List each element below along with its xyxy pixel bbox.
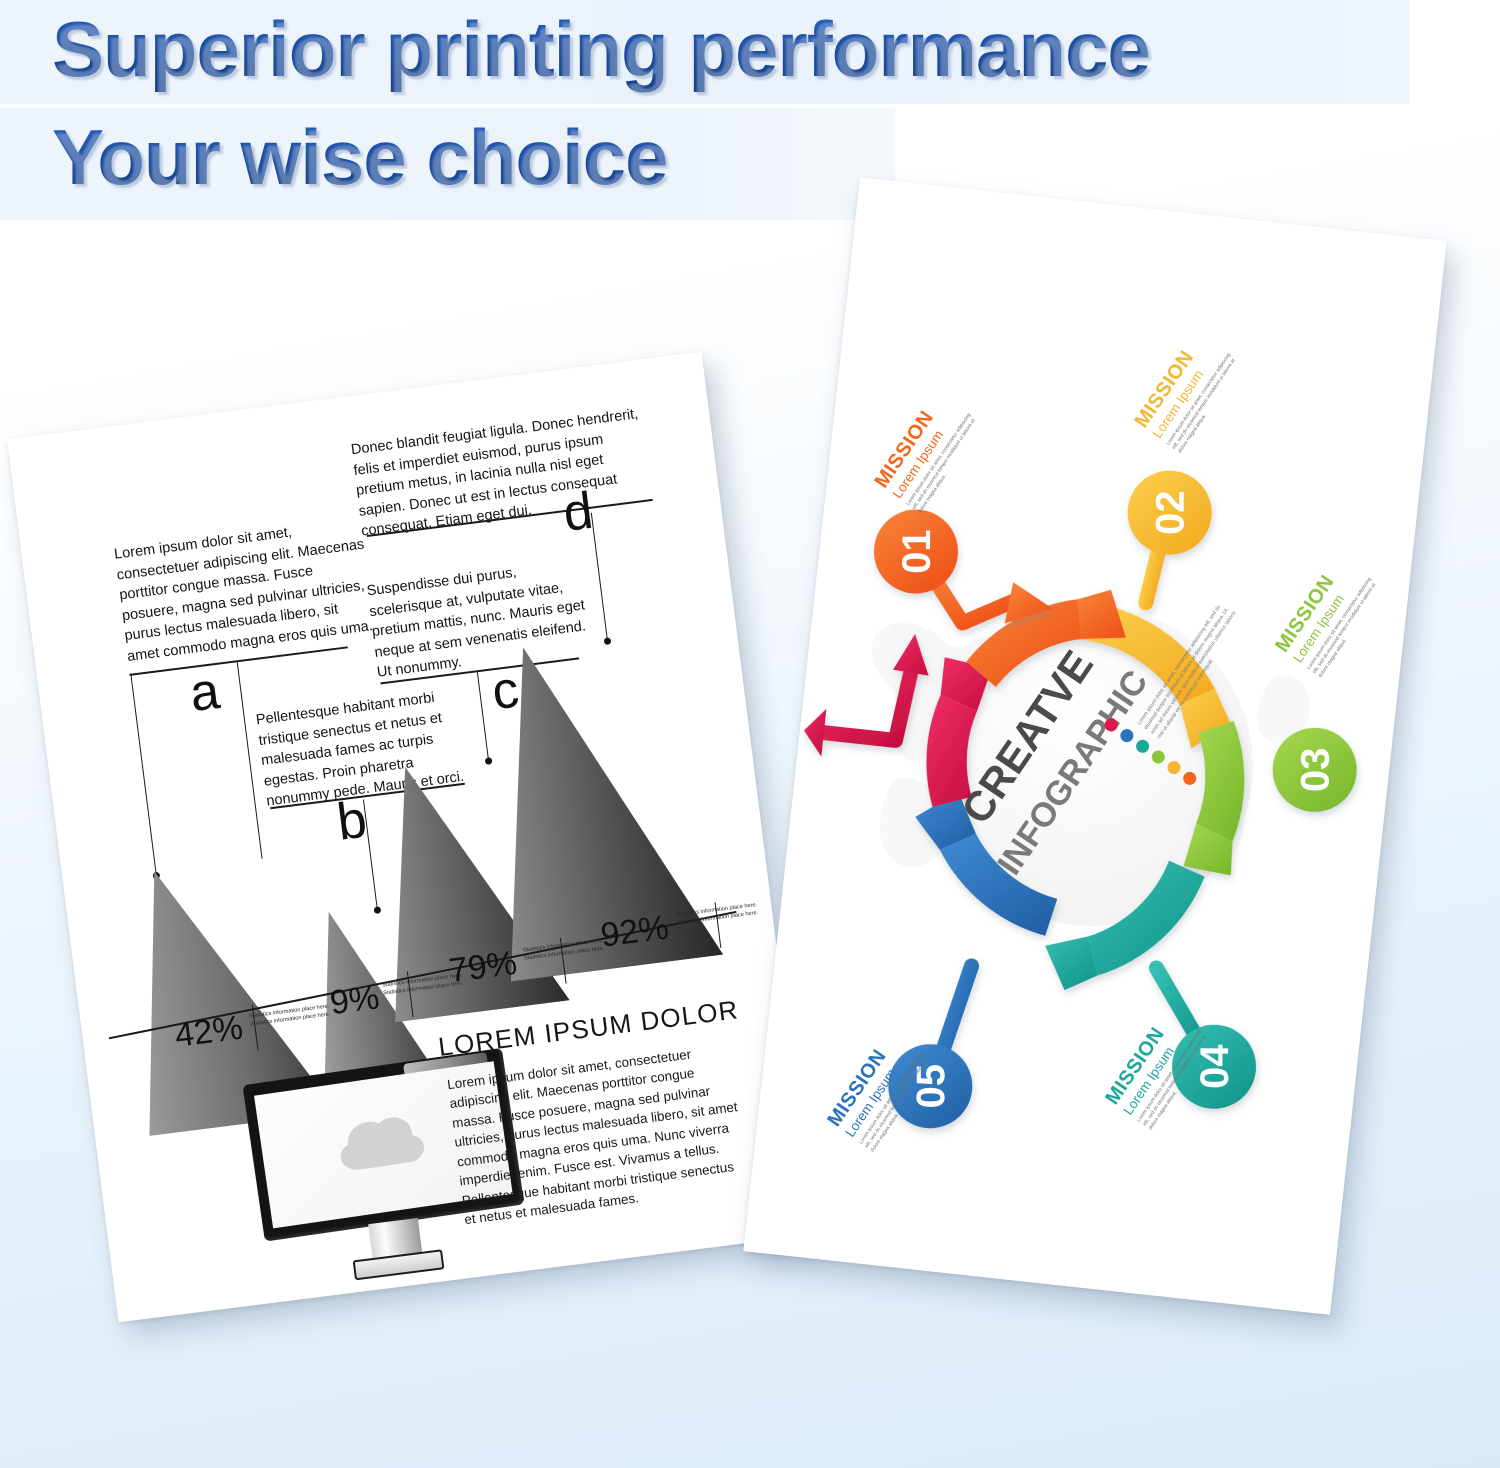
chart-value-92: 92% Statistics information place here. S… xyxy=(599,910,671,952)
headline-line-2: Your wise choice xyxy=(52,112,667,203)
cloud-icon xyxy=(332,1104,435,1184)
vline-a2 xyxy=(130,674,157,876)
chart-value-9: 9% Statistics information place here. St… xyxy=(328,980,381,1020)
chart-value-79-number: 79% xyxy=(447,946,519,988)
chart-value-9-number: 9% xyxy=(328,980,381,1020)
chart-value-79: 79% Statistics information place here. S… xyxy=(447,946,519,988)
right-document-sheet[interactable]: 01 02 03 04 05 CREATVE INFOGRAPHIC Lorem… xyxy=(743,177,1446,1314)
left-document-sheet[interactable]: Lorem ipsum dolor sit amet, consectetuer… xyxy=(7,352,813,1323)
chart-value-92-number: 92% xyxy=(599,910,671,952)
svg-text:03: 03 xyxy=(1294,748,1338,793)
chart-value-42: 42% Statistics information place here. S… xyxy=(173,1011,245,1053)
poster-canvas: Superior printing performance Your wise … xyxy=(0,0,1500,1468)
svg-text:01: 01 xyxy=(895,529,939,574)
chart-value-42-number: 42% xyxy=(173,1011,245,1053)
monitor-base xyxy=(353,1249,445,1280)
text-block-d: Donec blandit feugiat ligula. Donec hend… xyxy=(350,404,651,542)
text-block-a: Lorem ipsum dolor sit amet, consectetuer… xyxy=(113,514,377,668)
vline-a xyxy=(236,660,262,859)
headline-line-1: Superior printing performance xyxy=(52,4,1150,95)
svg-text:02: 02 xyxy=(1149,490,1193,535)
label-a: a xyxy=(187,665,222,720)
chart-triangle-d xyxy=(470,627,724,981)
